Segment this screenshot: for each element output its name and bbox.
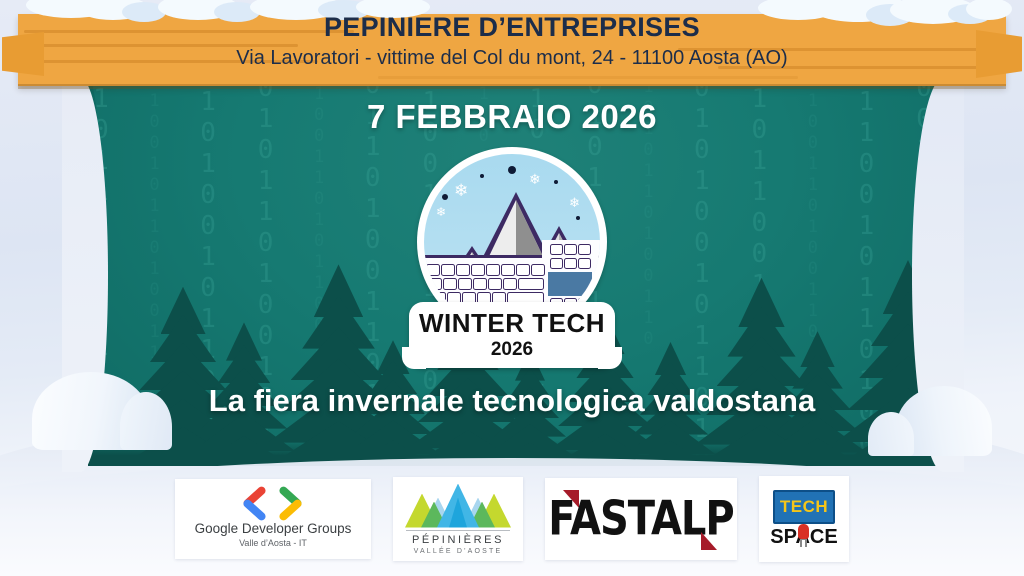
snowflake-icon: ❄ <box>454 182 468 199</box>
winter-tech-badge: WINTER TECH 2026 <box>409 302 615 368</box>
circuit-board-icon: TECH <box>773 490 835 524</box>
sponsor-name: Google Developer Groups <box>195 521 352 536</box>
snowflake-icon: ❄ <box>529 172 541 186</box>
sponsor-name-second: SPACE <box>770 526 837 549</box>
plank-shadow <box>18 84 1006 89</box>
sponsor-tech-space[interactable]: TECH SPACE <box>759 476 849 562</box>
sponsor-chapter: Valle d’Aosta - IT <box>239 538 307 548</box>
event-tagline: La fiera invernale tecnologica valdostan… <box>0 383 1024 419</box>
winter-tech-logo: ❄ ❄ ❄ ❄ <box>409 147 615 367</box>
sponsor-google-developer-groups[interactable]: Google Developer Groups Valle d’Aosta - … <box>175 479 371 559</box>
triangle-icon <box>701 532 717 550</box>
event-date: 7 FEBBRAIO 2026 <box>0 98 1024 136</box>
sponsor-strip: Google Developer Groups Valle d’Aosta - … <box>0 476 1024 562</box>
mountains-icon <box>405 484 511 528</box>
venue-banner: PEPINIERE D’ENTREPRISES Via Lavoratori -… <box>0 0 1024 96</box>
banner-title: PEPINIERE D’ENTREPRISES <box>0 12 1024 43</box>
snowflake-icon: ❄ <box>436 206 446 218</box>
sponsor-name: TECH <box>780 497 828 517</box>
sponsor-fastalp[interactable]: FASTALP <box>545 478 737 560</box>
sponsor-name: PÉPINIÈRES <box>412 534 504 546</box>
banner-address: Via Lavoratori - vittime del Col du mont… <box>0 47 1024 70</box>
led-icon <box>798 524 809 539</box>
event-poster: 1011010011010101001011010011110100101101… <box>0 0 1024 576</box>
code-chevron-icon <box>235 491 311 517</box>
divider <box>406 530 510 531</box>
badge-title: WINTER TECH <box>409 308 615 339</box>
snowflake-icon: ❄ <box>569 196 580 209</box>
sponsor-region: VALLÉE D'AOSTE <box>414 548 503 555</box>
sponsor-pepinieres[interactable]: PÉPINIÈRES VALLÉE D'AOSTE <box>393 477 523 561</box>
badge-year: 2026 <box>409 339 615 361</box>
